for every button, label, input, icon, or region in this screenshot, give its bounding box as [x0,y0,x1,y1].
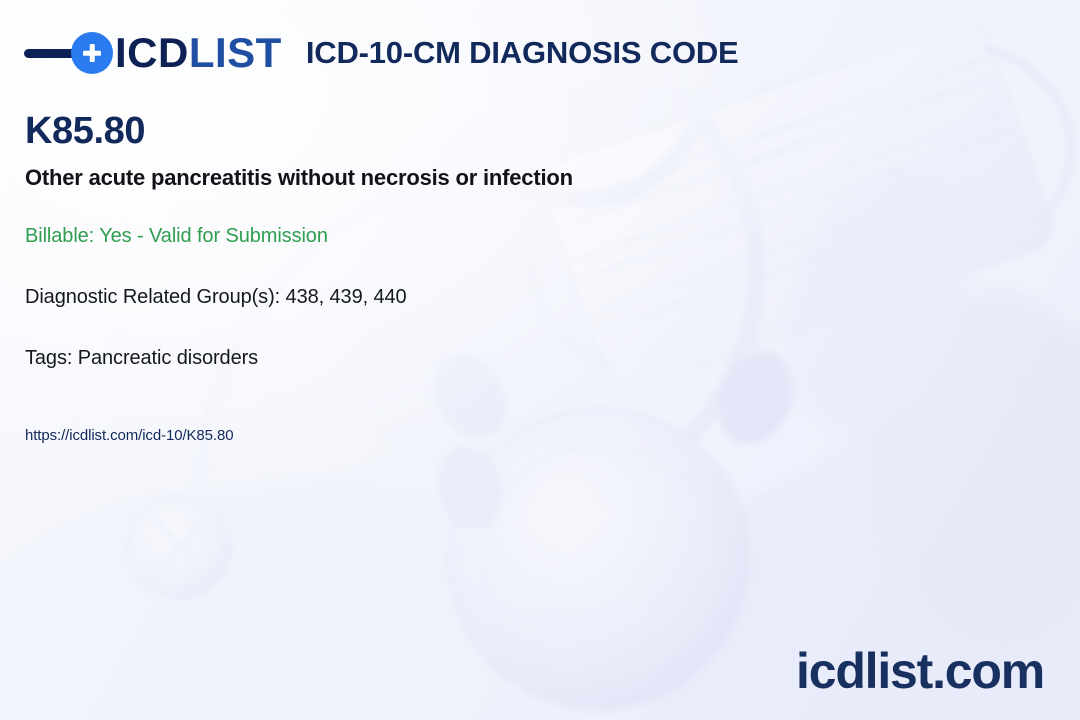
billable-status: Billable: Yes - Valid for Submission [25,225,985,248]
plus-icon [71,32,113,74]
page-title: ICD-10-CM DIAGNOSIS CODE [306,35,739,71]
tags-line: Tags: Pancreatic disorders [25,347,985,370]
diagnosis-code: K85.80 [25,112,985,152]
source-url[interactable]: https://icdlist.com/icd-10/K85.80 [25,427,985,444]
page-header: ICDLIST ICD-10-CM DIAGNOSIS CODE [24,26,1056,80]
code-details: K85.80 Other acute pancreatitis without … [25,112,985,444]
icdlist-logo[interactable]: ICDLIST [24,26,282,80]
diagnosis-description: Other acute pancreatitis without necrosi… [25,165,985,191]
brand-word-primary: ICD [115,29,189,76]
footer-wordmark[interactable]: icdlist.com [796,646,1044,696]
diagnostic-related-groups: Diagnostic Related Group(s): 438, 439, 4… [25,286,985,309]
brand-word-secondary: LIST [189,29,282,76]
brand-wordmark: ICDLIST [115,32,282,74]
poster-canvas: ICDLIST ICD-10-CM DIAGNOSIS CODE K85.80 … [0,0,1080,720]
